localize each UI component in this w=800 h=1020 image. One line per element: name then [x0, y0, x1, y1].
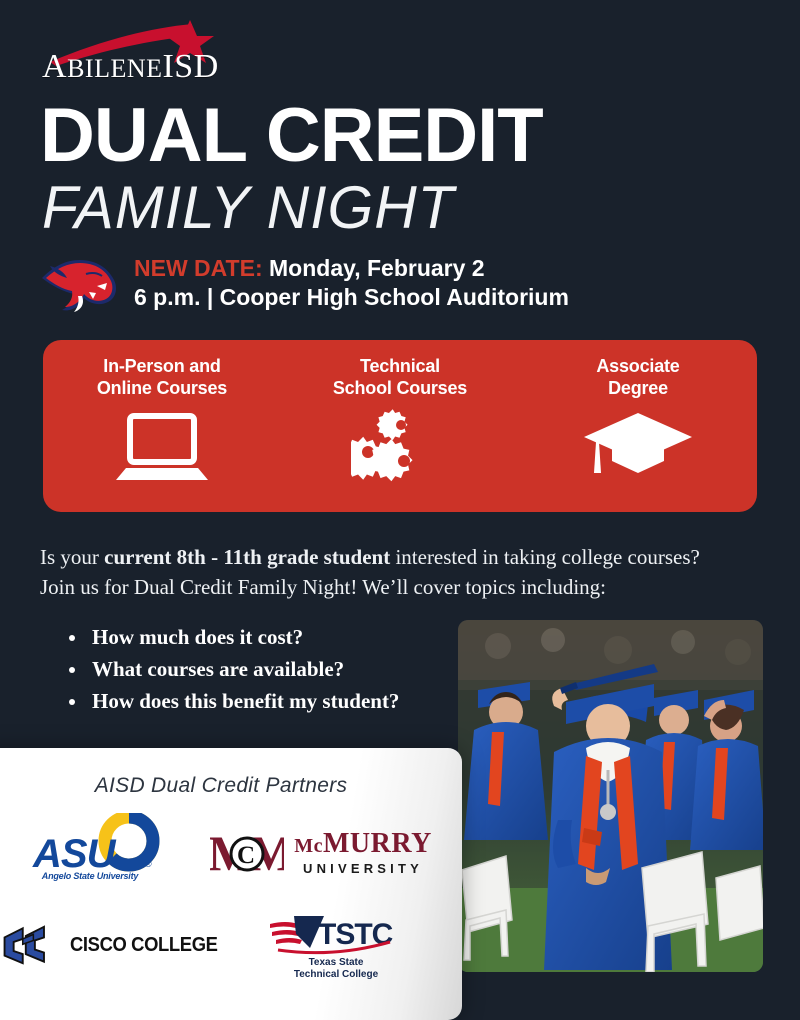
mcmurry-mark-icon: M M C [210, 824, 284, 880]
tstc-mark-icon: TSTC [268, 910, 404, 956]
event-date-line: NEW DATE: Monday, February 2 [134, 254, 569, 283]
feature-in-person-online: In-Person and Online Courses [43, 340, 281, 512]
feature-highlights-box: In-Person and Online Courses Technical S… [43, 340, 757, 512]
mcmurry-wordmark: McMURRY [294, 830, 432, 858]
body-line1-pre: Is your [40, 545, 104, 569]
cisco-mark-icon [0, 915, 58, 975]
abilene-isd-wordmark: ABILENEISD [42, 50, 219, 84]
partner-logo-asu[interactable]: ASU ® Angelo State University [0, 806, 200, 898]
list-item: What courses are available? [88, 654, 464, 686]
feature-label: In-Person and Online Courses [97, 356, 227, 399]
feature-label: Associate Degree [596, 356, 679, 399]
new-date-label: NEW DATE: [134, 255, 263, 281]
partner-logo-row: CISCO COLLEGE TSTC Texas State Technic [0, 908, 442, 982]
svg-text:®: ® [145, 859, 152, 869]
laptop-icon [114, 411, 210, 483]
graduation-cap-icon [582, 411, 694, 483]
body-paragraph: Is your current 8th - 11th grade student… [40, 543, 730, 603]
partner-logo-row: ASU ® Angelo State University M M C McMU… [0, 806, 442, 898]
svg-text:ASU: ASU [32, 832, 117, 876]
event-time-location: 6 p.m. | Cooper High School Auditorium [134, 283, 569, 312]
tstc-subtitle: Texas State Technical College [294, 957, 378, 980]
partner-logo-grid: ASU ® Angelo State University M M C McMU… [0, 806, 442, 982]
partners-title: AISD Dual Credit Partners [0, 774, 442, 798]
cougar-mascot-icon [40, 252, 120, 316]
feature-technical-school: Technical School Courses [281, 340, 519, 512]
page-subtitle: FAMILY NIGHT [42, 178, 455, 238]
event-details: NEW DATE: Monday, February 2 6 p.m. | Co… [40, 248, 680, 320]
partner-logo-cisco[interactable]: CISCO COLLEGE [0, 908, 230, 982]
asu-subtitle: Angelo State University [27, 871, 153, 881]
topic-bullet-list: How much does it cost? What courses are … [64, 622, 464, 718]
abilene-isd-logo: ABILENEISD [42, 22, 272, 84]
mcmurry-subtitle: UNIVERSITY [294, 862, 432, 875]
body-line1-bold: current 8th - 11th grade student [104, 545, 390, 569]
body-line1-post: interested in taking college courses? [390, 545, 700, 569]
svg-text:TSTC: TSTC [318, 918, 393, 951]
partner-logo-mcmurry[interactable]: M M C McMURRY UNIVERSITY [200, 806, 442, 898]
event-date-value: Monday, February 2 [269, 255, 485, 281]
tstc-subtitle-line2: Technical College [294, 969, 378, 981]
feature-label: Technical School Courses [333, 356, 467, 399]
gears-icon [351, 411, 449, 483]
list-item: How much does it cost? [88, 622, 464, 654]
list-item: How does this benefit my student? [88, 686, 464, 718]
feature-associate-degree: Associate Degree [519, 340, 757, 512]
partner-logo-tstc[interactable]: TSTC Texas State Technical College [230, 908, 442, 982]
svg-text:C: C [237, 842, 255, 869]
partners-panel: AISD Dual Credit Partners ASU ® Angelo S… [0, 748, 462, 1020]
cisco-wordmark: CISCO COLLEGE [70, 934, 218, 957]
body-line2: Join us for Dual Credit Family Night! We… [40, 575, 606, 599]
graduation-photo [458, 620, 763, 972]
tstc-subtitle-line1: Texas State [294, 957, 378, 969]
page-title: DUAL CREDIT [40, 98, 543, 174]
